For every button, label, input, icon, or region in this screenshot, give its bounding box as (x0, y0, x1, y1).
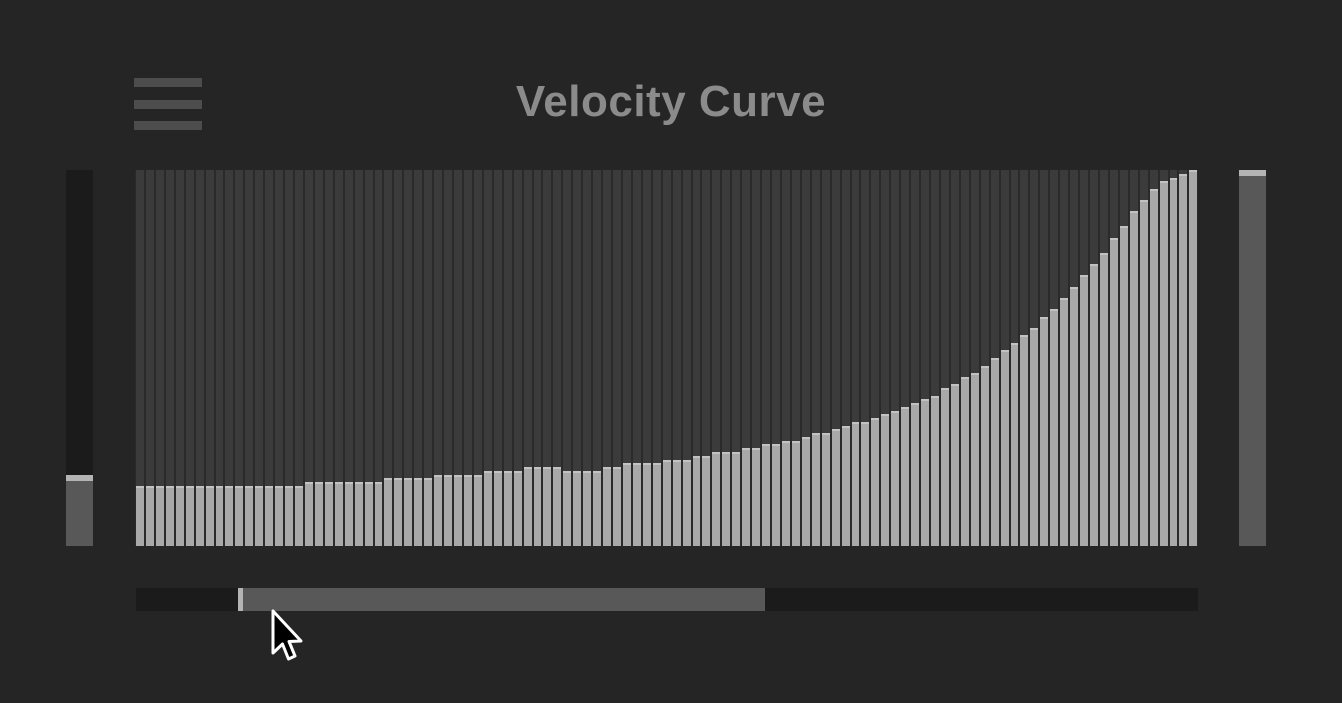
bar-slot[interactable] (1130, 170, 1138, 546)
bar-slot[interactable] (424, 170, 432, 546)
bar-fill (1189, 170, 1197, 546)
bar-slot[interactable] (961, 170, 969, 546)
bar-fill (822, 433, 830, 546)
bar-fill (981, 366, 989, 546)
bar-slot[interactable] (225, 170, 233, 546)
bar-slot[interactable] (1100, 170, 1108, 546)
bar-slot[interactable] (315, 170, 323, 546)
bar-fill (613, 467, 621, 546)
bar-fill (852, 422, 860, 546)
mouse-pointer-icon (268, 608, 308, 666)
bar-slot[interactable] (384, 170, 392, 546)
bar-slot[interactable] (375, 170, 383, 546)
page-title: Velocity Curve (0, 72, 1342, 132)
bar-fill (166, 486, 174, 546)
bar-slot[interactable] (514, 170, 522, 546)
bar-fill (683, 460, 691, 546)
bar-fill (1080, 275, 1088, 546)
bar-slot[interactable] (981, 170, 989, 546)
bar-fill (1011, 343, 1019, 546)
bar-slot[interactable] (573, 170, 581, 546)
bar-fill (673, 460, 681, 546)
bar-fill (921, 399, 929, 546)
bar-fill (951, 384, 959, 546)
bar-fill (325, 482, 333, 546)
bar-slot[interactable] (534, 170, 542, 546)
bar-slot[interactable] (494, 170, 502, 546)
bar-slot[interactable] (911, 170, 919, 546)
bar-fill (1150, 189, 1158, 546)
bar-fill (1001, 350, 1009, 546)
bar-slot[interactable] (206, 170, 214, 546)
bar-slot[interactable] (712, 170, 720, 546)
bar-slot[interactable] (852, 170, 860, 546)
bar-slot[interactable] (543, 170, 551, 546)
bar-fill (156, 486, 164, 546)
bar-slot[interactable] (951, 170, 959, 546)
bar-fill (881, 414, 889, 546)
bar-fill (375, 482, 383, 546)
bar-fill (653, 463, 661, 546)
bar-slot[interactable] (673, 170, 681, 546)
bar-fill (931, 396, 939, 546)
bar-fill (543, 467, 551, 546)
bar-slot[interactable] (1120, 170, 1128, 546)
bar-slot[interactable] (196, 170, 204, 546)
bar-fill (345, 482, 353, 546)
bar-slot[interactable] (176, 170, 184, 546)
bar-fill (225, 486, 233, 546)
bar-fill (1050, 309, 1058, 546)
bar-fill (802, 437, 810, 546)
bar-fill (911, 403, 919, 546)
bar-slot[interactable] (792, 170, 800, 546)
bar-slot[interactable] (265, 170, 273, 546)
bar-fill (474, 475, 482, 546)
bar-slot[interactable] (861, 170, 869, 546)
bar-fill (1140, 200, 1148, 546)
bar-fill (216, 486, 224, 546)
bar-slot[interactable] (1110, 170, 1118, 546)
bar-slot[interactable] (1040, 170, 1048, 546)
bar-fill (623, 463, 631, 546)
bar-fill (494, 471, 502, 546)
bar-slot[interactable] (1070, 170, 1078, 546)
bar-slot[interactable] (285, 170, 293, 546)
bar-fill (265, 486, 273, 546)
bar-slot[interactable] (971, 170, 979, 546)
bar-slot[interactable] (1030, 170, 1038, 546)
bar-slot[interactable] (772, 170, 780, 546)
bar-slot[interactable] (245, 170, 253, 546)
bar-slot[interactable] (822, 170, 830, 546)
bar-fill (961, 377, 969, 546)
bar-fill (245, 486, 253, 546)
bar-fill (553, 467, 561, 546)
bar-slot[interactable] (921, 170, 929, 546)
bar-slot[interactable] (891, 170, 899, 546)
bar-slot[interactable] (394, 170, 402, 546)
bar-slot[interactable] (216, 170, 224, 546)
bar-fill (275, 486, 283, 546)
bar-slot[interactable] (1080, 170, 1088, 546)
bar-fill (1170, 178, 1178, 546)
bar-fill (484, 471, 492, 546)
bar-slot[interactable] (812, 170, 820, 546)
bar-fill (583, 471, 591, 546)
horizontal-slider-thumb[interactable] (238, 588, 765, 611)
bar-slot[interactable] (563, 170, 571, 546)
bar-fill (1179, 174, 1187, 546)
bar-slot[interactable] (802, 170, 810, 546)
bar-fill (832, 429, 840, 546)
bar-slot[interactable] (832, 170, 840, 546)
bar-slot[interactable] (633, 170, 641, 546)
bar-fill (991, 358, 999, 546)
bar-slot[interactable] (235, 170, 243, 546)
bar-slot[interactable] (762, 170, 770, 546)
bar-fill (235, 486, 243, 546)
vertical-scrollbar-right[interactable] (1239, 170, 1266, 546)
bar-fill (186, 486, 194, 546)
bar-fill (1110, 238, 1118, 546)
bar-slot[interactable] (842, 170, 850, 546)
bar-slot[interactable] (454, 170, 462, 546)
bar-slot[interactable] (404, 170, 412, 546)
bar-fill (1070, 287, 1078, 546)
bar-slot[interactable] (663, 170, 671, 546)
bar-slot[interactable] (305, 170, 313, 546)
bar-slot[interactable] (603, 170, 611, 546)
bar-fill (176, 486, 184, 546)
bar-slot[interactable] (504, 170, 512, 546)
bar-slot[interactable] (693, 170, 701, 546)
bar-fill (1020, 335, 1028, 546)
bar-fill (136, 486, 144, 546)
vertical-scrollbar-right-thumb[interactable] (1239, 170, 1266, 546)
bar-slot[interactable] (1090, 170, 1098, 546)
bar-slot[interactable] (295, 170, 303, 546)
bar-fill (752, 448, 760, 546)
bar-fill (643, 463, 651, 546)
bar-fill (663, 460, 671, 546)
bar-slot[interactable] (1060, 170, 1068, 546)
bar-fill (504, 471, 512, 546)
bar-slot[interactable] (1001, 170, 1009, 546)
bar-fill (1100, 253, 1108, 546)
app-window: Velocity Curve (0, 0, 1342, 703)
bar-slot[interactable] (484, 170, 492, 546)
horizontal-slider-track[interactable] (136, 588, 1198, 611)
bar-slot[interactable] (166, 170, 174, 546)
bar-slot[interactable] (1011, 170, 1019, 546)
bar-slot[interactable] (702, 170, 710, 546)
bar-fill (971, 373, 979, 546)
bar-fill (1130, 211, 1138, 546)
bar-slot[interactable] (991, 170, 999, 546)
bar-slot[interactable] (156, 170, 164, 546)
bar-slot[interactable] (742, 170, 750, 546)
bar-fill (693, 456, 701, 546)
bar-fill (384, 478, 392, 546)
vertical-scrollbar-left[interactable] (66, 170, 93, 546)
bar-fill (603, 467, 611, 546)
bar-slot[interactable] (345, 170, 353, 546)
bar-fill (524, 467, 532, 546)
bar-slot[interactable] (146, 170, 154, 546)
bar-slot[interactable] (752, 170, 760, 546)
bar-fill (563, 471, 571, 546)
bar-slot[interactable] (464, 170, 472, 546)
bar-fill (1060, 298, 1068, 546)
bar-fill (444, 475, 452, 546)
bar-fill (702, 456, 710, 546)
bar-slot[interactable] (941, 170, 949, 546)
bar-fill (871, 418, 879, 546)
bar-fill (941, 388, 949, 546)
bar-slot[interactable] (325, 170, 333, 546)
bar-slot[interactable] (1170, 170, 1178, 546)
bar-fill (812, 433, 820, 546)
bar-slot[interactable] (1179, 170, 1187, 546)
bar-slot[interactable] (355, 170, 363, 546)
bar-fill (454, 475, 462, 546)
bar-series (135, 170, 1198, 546)
bar-fill (255, 486, 263, 546)
bar-fill (1090, 264, 1098, 546)
bar-fill (285, 486, 293, 546)
bar-fill (514, 471, 522, 546)
bar-slot[interactable] (871, 170, 879, 546)
bar-fill (792, 441, 800, 546)
bar-fill (573, 471, 581, 546)
bar-fill (414, 478, 422, 546)
bar-fill (305, 482, 313, 546)
bar-fill (732, 452, 740, 546)
bar-slot[interactable] (186, 170, 194, 546)
velocity-curve-chart[interactable] (135, 170, 1198, 546)
bar-fill (434, 475, 442, 546)
bar-slot[interactable] (593, 170, 601, 546)
bar-slot[interactable] (901, 170, 909, 546)
bar-slot[interactable] (653, 170, 661, 546)
bar-slot[interactable] (434, 170, 442, 546)
bar-slot[interactable] (782, 170, 790, 546)
bar-fill (394, 478, 402, 546)
bar-slot[interactable] (1020, 170, 1028, 546)
bar-slot[interactable] (553, 170, 561, 546)
bar-slot[interactable] (722, 170, 730, 546)
bar-fill (295, 486, 303, 546)
bar-fill (1120, 226, 1128, 546)
bar-slot[interactable] (643, 170, 651, 546)
bar-fill (593, 471, 601, 546)
bar-fill (762, 444, 770, 546)
bar-fill (424, 478, 432, 546)
bar-fill (891, 411, 899, 546)
bar-fill (404, 478, 412, 546)
bar-slot[interactable] (732, 170, 740, 546)
bar-slot[interactable] (881, 170, 889, 546)
bar-slot[interactable] (444, 170, 452, 546)
bar-fill (712, 452, 720, 546)
bar-fill (315, 482, 323, 546)
bar-fill (742, 448, 750, 546)
bar-slot[interactable] (683, 170, 691, 546)
bar-fill (782, 441, 790, 546)
bar-fill (1160, 181, 1168, 546)
bar-fill (861, 422, 869, 546)
bar-slot[interactable] (613, 170, 621, 546)
bar-slot[interactable] (583, 170, 591, 546)
bar-fill (146, 486, 154, 546)
bar-fill (1040, 317, 1048, 546)
bar-fill (534, 467, 542, 546)
bar-slot[interactable] (474, 170, 482, 546)
bar-fill (464, 475, 472, 546)
bar-fill (633, 463, 641, 546)
bar-fill (196, 486, 204, 546)
bar-slot[interactable] (136, 170, 144, 546)
bar-fill (772, 444, 780, 546)
bar-slot[interactable] (524, 170, 532, 546)
bar-fill (901, 407, 909, 546)
bar-slot[interactable] (931, 170, 939, 546)
bar-slot[interactable] (1150, 170, 1158, 546)
vertical-scrollbar-left-thumb[interactable] (66, 475, 93, 546)
bar-slot[interactable] (623, 170, 631, 546)
bar-slot[interactable] (1050, 170, 1058, 546)
bar-slot[interactable] (1189, 170, 1197, 546)
bar-slot[interactable] (1140, 170, 1148, 546)
header-bar: Velocity Curve (0, 0, 1342, 160)
bar-fill (1030, 328, 1038, 546)
bar-fill (355, 482, 363, 546)
bar-fill (335, 482, 343, 546)
bar-slot[interactable] (275, 170, 283, 546)
bar-slot[interactable] (335, 170, 343, 546)
bar-fill (206, 486, 214, 546)
bar-slot[interactable] (1160, 170, 1168, 546)
bar-fill (365, 482, 373, 546)
bar-slot[interactable] (255, 170, 263, 546)
bar-fill (722, 452, 730, 546)
bar-slot[interactable] (414, 170, 422, 546)
bar-fill (842, 426, 850, 546)
bar-slot[interactable] (365, 170, 373, 546)
